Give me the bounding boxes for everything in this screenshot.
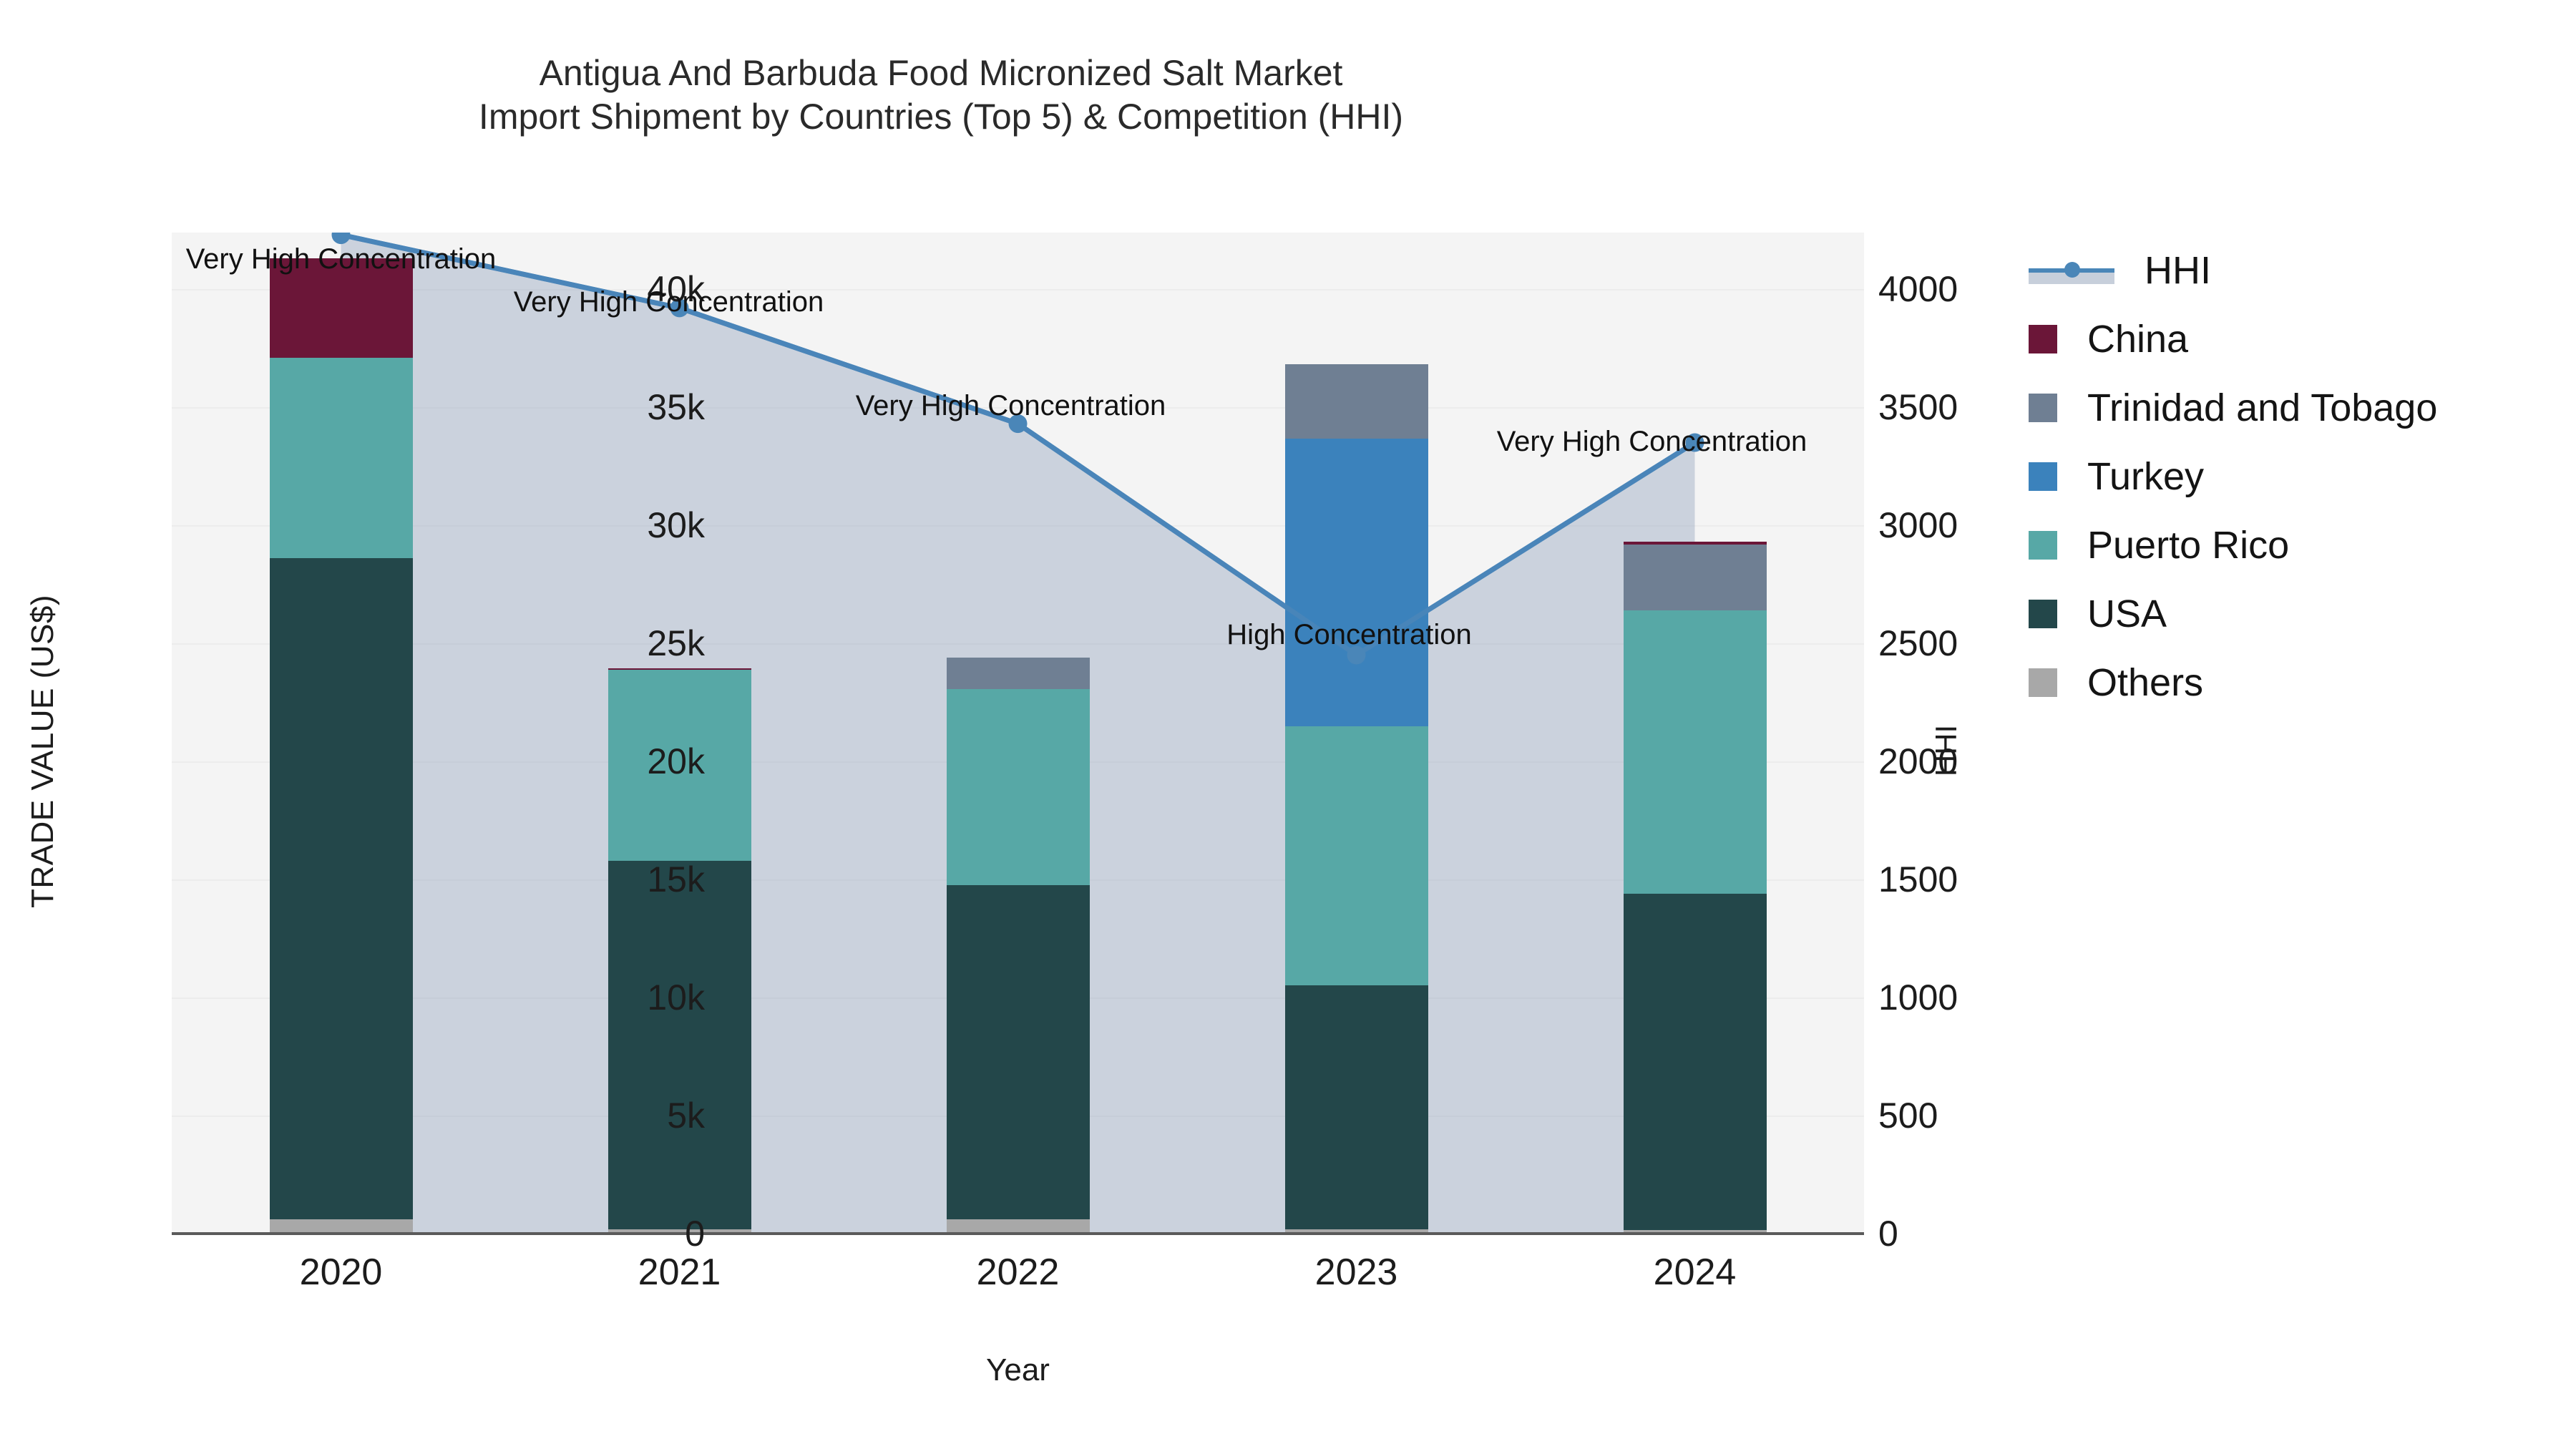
y-axis-left-tick: 30k <box>647 504 705 546</box>
x-axis-tick: 2021 <box>638 1251 721 1294</box>
legend-color-swatch <box>2029 531 2057 560</box>
concentration-annotation: Very High Concentration <box>186 243 497 275</box>
concentration-annotation: Very High Concentration <box>1497 426 1807 458</box>
bar-segment[interactable] <box>1624 545 1767 610</box>
x-axis-line <box>172 1232 1864 1235</box>
bar-stack[interactable] <box>270 233 413 1234</box>
chart-title: Antigua And Barbuda Food Micronized Salt… <box>0 52 1882 139</box>
concentration-annotation: High Concentration <box>1226 619 1471 651</box>
y-axis-right-tick: 3500 <box>1878 386 1958 428</box>
legend-label: HHI <box>2145 248 2211 293</box>
legend-color-swatch <box>2029 394 2057 422</box>
legend-label: Trinidad and Tobago <box>2087 386 2437 430</box>
bar-segment[interactable] <box>1624 610 1767 894</box>
legend-label: USA <box>2087 592 2167 636</box>
x-axis-tick: 2024 <box>1654 1251 1737 1294</box>
y-axis-left-label: TRADE VALUE (US$) <box>25 465 61 1038</box>
y-axis-right-tick: 4000 <box>1878 268 1958 310</box>
y-axis-left-tick: 35k <box>647 386 705 428</box>
legend-item[interactable]: Trinidad and Tobago <box>2029 374 2437 442</box>
concentration-annotation: Very High Concentration <box>856 390 1166 422</box>
x-axis-tick: 2023 <box>1315 1251 1398 1294</box>
legend-item[interactable]: Turkey <box>2029 442 2437 511</box>
bar-segment[interactable] <box>1285 439 1428 727</box>
bar-segment[interactable] <box>608 861 751 1229</box>
chart-legend: HHIChinaTrinidad and TobagoTurkeyPuerto … <box>2029 236 2437 717</box>
plot-area <box>172 233 1864 1234</box>
x-axis-tick: 2020 <box>300 1251 383 1294</box>
bar-segment[interactable] <box>1624 894 1767 1230</box>
x-axis-label: Year <box>172 1352 1864 1388</box>
bar-stack[interactable] <box>1285 233 1428 1234</box>
y-axis-right-tick: 1000 <box>1878 977 1958 1018</box>
legend-label: Others <box>2087 660 2203 705</box>
legend-item[interactable]: Others <box>2029 648 2437 717</box>
y-axis-left-tick: 10k <box>647 977 705 1018</box>
y-axis-right-tick: 3000 <box>1878 504 1958 546</box>
legend-color-swatch <box>2029 325 2057 353</box>
bar-segment[interactable] <box>1285 726 1428 985</box>
y-axis-left-tick: 20k <box>647 741 705 782</box>
y-axis-right-tick: 500 <box>1878 1095 1938 1136</box>
y-axis-right-tick: 0 <box>1878 1213 1898 1254</box>
chart-title-line-2: Import Shipment by Countries (Top 5) & C… <box>0 95 1882 139</box>
concentration-annotation: Very High Concentration <box>514 286 824 318</box>
chart-title-line-1: Antigua And Barbuda Food Micronized Salt… <box>0 52 1882 95</box>
bar-segment[interactable] <box>947 1219 1090 1234</box>
legend-label: China <box>2087 317 2188 361</box>
bar-segment[interactable] <box>270 358 413 559</box>
y-axis-right-label: HHI <box>1929 608 1963 894</box>
bar-segment[interactable] <box>1624 542 1767 544</box>
legend-label: Puerto Rico <box>2087 523 2289 567</box>
legend-label: Turkey <box>2087 454 2204 499</box>
bar-segment[interactable] <box>947 658 1090 690</box>
legend-item[interactable]: China <box>2029 305 2437 374</box>
bar-segment[interactable] <box>608 668 751 670</box>
legend-color-swatch <box>2029 668 2057 697</box>
legend-item[interactable]: Puerto Rico <box>2029 511 2437 580</box>
bar-segment[interactable] <box>1285 985 1428 1230</box>
y-axis-left-tick: 0 <box>685 1213 705 1254</box>
legend-color-swatch <box>2029 600 2057 628</box>
bar-segment[interactable] <box>947 885 1090 1219</box>
bar-stack[interactable] <box>608 233 751 1234</box>
bar-stack[interactable] <box>1624 233 1767 1234</box>
bar-segment[interactable] <box>1285 364 1428 439</box>
legend-line-marker <box>2029 256 2114 285</box>
bar-segment[interactable] <box>270 558 413 1219</box>
y-axis-left-tick: 25k <box>647 623 705 664</box>
legend-item[interactable]: HHI <box>2029 236 2437 305</box>
x-axis-tick: 2022 <box>977 1251 1060 1294</box>
y-axis-left-tick: 5k <box>667 1095 705 1136</box>
bar-segment[interactable] <box>947 689 1090 885</box>
y-axis-left-tick: 15k <box>647 859 705 900</box>
legend-item[interactable]: USA <box>2029 580 2437 648</box>
bar-stack[interactable] <box>947 233 1090 1234</box>
legend-color-swatch <box>2029 462 2057 491</box>
chart-canvas: Antigua And Barbuda Food Micronized Salt… <box>0 0 2576 1449</box>
bar-segment[interactable] <box>270 1219 413 1234</box>
